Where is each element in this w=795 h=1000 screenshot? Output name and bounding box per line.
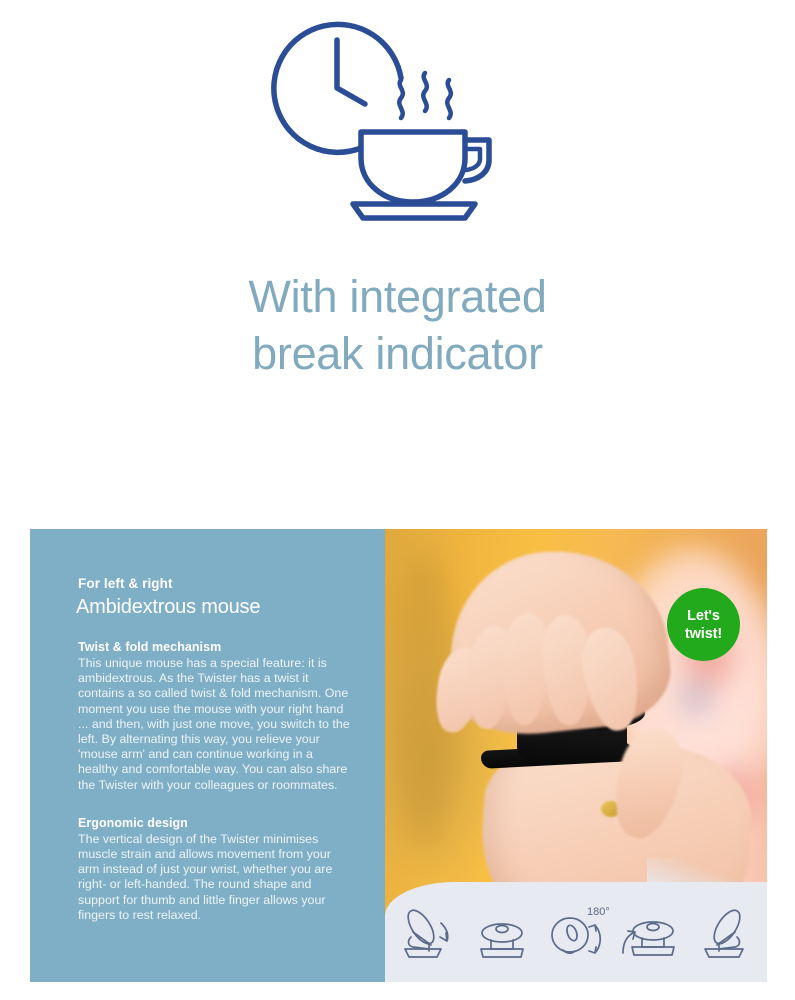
- hero-heading-line-2: break indicator: [0, 325, 795, 382]
- feature-text-column: For left & right Ambidextrous mouse Twis…: [30, 529, 385, 982]
- section-heading-ergonomic: Ergonomic design: [78, 815, 371, 832]
- section-body-twist-fold: This unique mouse has a special feature:…: [78, 656, 350, 793]
- feature-photo-column: Let's twist!: [385, 529, 767, 982]
- step-unfold-icon: [617, 899, 683, 965]
- badge-line-1: Let's: [687, 607, 720, 625]
- badge-line-2: twist!: [685, 625, 722, 643]
- photo-background-blur: [681, 679, 711, 717]
- step-folded-flat-icon: [469, 899, 535, 965]
- product-feature-page: With integrated break indicator For left…: [0, 0, 795, 1000]
- feature-title: Ambidextrous mouse: [76, 594, 371, 621]
- feature-panel: For left & right Ambidextrous mouse Twis…: [30, 529, 767, 982]
- step-rotate-180-icon: 180°: [543, 899, 609, 965]
- hero-heading-line-1: With integrated: [0, 268, 795, 325]
- step-upright-icon: [691, 899, 757, 965]
- rotation-degree-label: 180°: [587, 906, 609, 918]
- section-body-ergonomic: The vertical design of the Twister minim…: [78, 832, 350, 923]
- hero-heading: With integrated break indicator: [0, 268, 795, 382]
- feature-eyebrow: For left & right: [78, 575, 371, 593]
- step-fold-down-icon: [395, 899, 461, 965]
- fold-instruction-strip: 180°: [385, 882, 767, 982]
- hero-section: With integrated break indicator: [0, 0, 795, 500]
- section-heading-twist-fold: Twist & fold mechanism: [78, 639, 371, 656]
- clock-coffee-break-icon: [253, 12, 528, 232]
- lets-twist-badge: Let's twist!: [667, 588, 740, 661]
